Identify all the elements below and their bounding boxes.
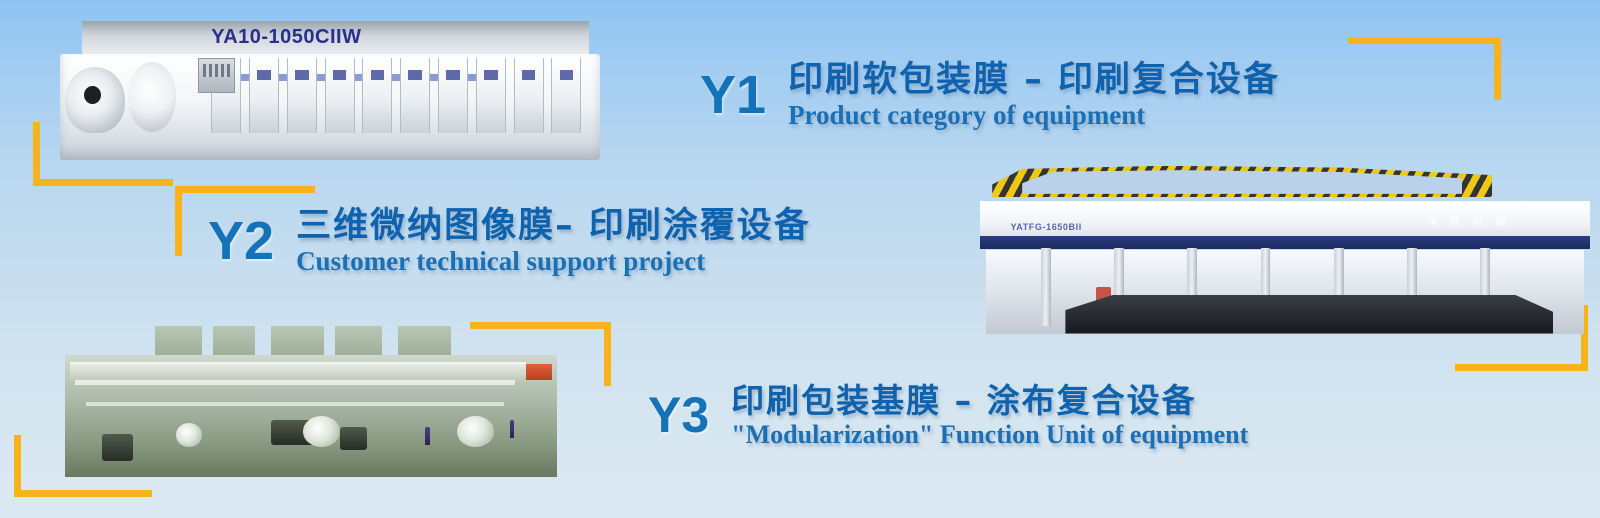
bracket-mid-right-horizontal bbox=[1455, 364, 1588, 371]
bracket-bottom-left-vertical bbox=[14, 435, 21, 497]
bracket-y2-vertical bbox=[175, 186, 182, 256]
text-lines-y1: 印刷软包装膜 – 印刷复合设备 Product category of equi… bbox=[788, 62, 1280, 129]
text-lines-y2: 三维微纳图像膜– 印刷涂覆设备 Customer technical suppo… bbox=[296, 208, 811, 275]
code-label-y1: Y1 bbox=[700, 70, 766, 121]
photo-printing-press: YA10-1050CIIW bbox=[60, 8, 600, 173]
machine-label-y2: YATFG-1650BII bbox=[1011, 222, 1082, 232]
bracket-mid-left-vertical bbox=[604, 322, 611, 386]
machine-brand-y2: 华 联 机 器 bbox=[1427, 213, 1510, 228]
headline-cn-y1: 印刷软包装膜 – 印刷复合设备 bbox=[788, 62, 1280, 99]
headline-en-y1: Product category of equipment bbox=[788, 101, 1280, 129]
text-group-y3: Y3 印刷包装基膜 – 涂布复合设备 "Modularization" Func… bbox=[648, 384, 1248, 448]
text-group-y1: Y1 印刷软包装膜 – 印刷复合设备 Product category of e… bbox=[700, 62, 1280, 129]
bracket-bottom-left-horizontal bbox=[14, 490, 152, 497]
headline-en-y2: Customer technical support project bbox=[296, 247, 811, 275]
headline-cn-y3: 印刷包装基膜 – 涂布复合设备 bbox=[731, 384, 1248, 419]
code-label-y2: Y2 bbox=[208, 216, 274, 267]
bracket-top-right-vertical bbox=[1494, 37, 1501, 100]
promotional-banner: YA10-1050CIIW YATFG-1650BII 华 联 机 器 bbox=[0, 0, 1600, 518]
bracket-y2-horizontal bbox=[175, 186, 315, 193]
bracket-top-right-horizontal bbox=[1348, 37, 1501, 44]
bracket-top-left-horizontal bbox=[33, 179, 173, 186]
text-group-y2: Y2 三维微纳图像膜– 印刷涂覆设备 Customer technical su… bbox=[208, 208, 811, 275]
code-label-y3: Y3 bbox=[648, 392, 709, 440]
text-lines-y3: 印刷包装基膜 – 涂布复合设备 "Modularization" Functio… bbox=[731, 384, 1248, 448]
machine-label-y1: YA10-1050CIIW bbox=[211, 26, 361, 49]
headline-en-y3: "Modularization" Function Unit of equipm… bbox=[731, 421, 1248, 448]
bracket-top-left-vertical bbox=[33, 122, 40, 186]
headline-cn-y2: 三维微纳图像膜– 印刷涂覆设备 bbox=[296, 208, 811, 245]
photo-coating-line: YATFG-1650BII 华 联 机 器 bbox=[980, 158, 1590, 353]
photo-production-line bbox=[38, 308, 568, 488]
